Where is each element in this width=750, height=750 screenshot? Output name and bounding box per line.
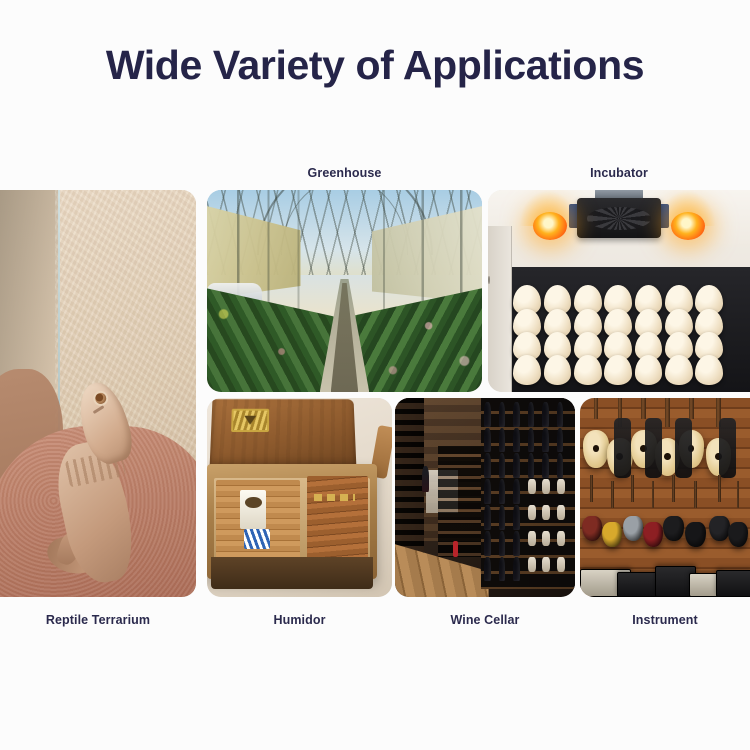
wine-rack-middle: [438, 446, 485, 557]
image-instrument[interactable]: [580, 398, 750, 597]
humidor-lid: [209, 399, 356, 470]
guitar-neck: [665, 398, 670, 427]
wine-bottle-base: [542, 557, 550, 572]
guitar-body: [663, 516, 683, 541]
bearded-dragon-lizard: [51, 373, 153, 597]
incubator-egg-grid: [512, 259, 750, 392]
wine-bottle: [557, 453, 564, 478]
incubator-egg: [665, 355, 693, 384]
wine-bottle: [542, 402, 549, 427]
wine-bottle: [513, 479, 520, 504]
wine-bottle-base: [557, 557, 565, 572]
incubator-side-panel: [488, 226, 512, 392]
humidor-gold-emblem: [231, 409, 269, 433]
wine-bottle: [528, 428, 535, 453]
wine-bottle: [528, 402, 535, 427]
wine-bottle: [422, 466, 429, 492]
guitar-sound-hole: [664, 453, 671, 460]
guitar-neck: [689, 398, 694, 419]
wine-bottle: [484, 557, 491, 582]
guitar-gig-bag: [675, 418, 692, 478]
wine-bottle-base: [557, 505, 565, 520]
wine-bottle: [542, 453, 549, 478]
lizard-eye: [94, 392, 108, 406]
wine-bottle: [499, 531, 506, 556]
image-incubator[interactable]: [488, 190, 750, 392]
wine-bottle-base: [528, 479, 536, 494]
image-greenhouse[interactable]: [207, 190, 482, 392]
wine-rack-far-left: [395, 398, 424, 553]
guitar-neck: [611, 481, 614, 508]
wine-bottle: [513, 531, 520, 556]
wine-bottle-base: [542, 531, 550, 546]
guitar-body: [582, 516, 602, 541]
guitar-body: [583, 430, 609, 468]
guitar-neck: [694, 481, 697, 508]
humidor-scene: [207, 398, 392, 597]
wine-bottle: [484, 453, 491, 478]
guitar-neck: [718, 475, 721, 502]
guitar-neck: [641, 398, 646, 419]
wine-bottle-base: [528, 531, 536, 546]
caption-humidor: Humidor: [207, 613, 392, 627]
wine-bottle: [484, 505, 491, 530]
guitar-body: [709, 516, 729, 541]
wine-bottle: [484, 479, 491, 504]
electric-guitar: [602, 503, 622, 547]
humidor-cigar-bands: [314, 494, 355, 502]
wine-bottle: [499, 402, 506, 427]
guitar-neck: [737, 481, 740, 508]
image-reptile-terrarium[interactable]: [0, 190, 196, 597]
caption-reptile-terrarium: Reptile Terrarium: [0, 613, 196, 627]
guitar-neck: [590, 475, 593, 502]
electric-guitar: [582, 498, 602, 542]
wine-bottle-base: [528, 505, 536, 520]
page-title: Wide Variety of Applications: [0, 42, 750, 89]
caption-incubator: Incubator: [488, 166, 750, 180]
wine-bottle-base: [542, 479, 550, 494]
wine-bottle-base: [557, 531, 565, 546]
guitar-amplifier: [716, 570, 750, 597]
guitar-body: [623, 516, 643, 541]
wine-bottle: [557, 402, 564, 427]
wine-bottle: [499, 428, 506, 453]
electric-guitar: [728, 503, 748, 547]
wine-bottle: [513, 505, 520, 530]
incubator-egg: [574, 355, 602, 384]
electric-guitar: [643, 503, 663, 547]
guitar-gig-bag: [645, 418, 662, 478]
electric-guitar: [663, 498, 683, 542]
incubator-egg: [635, 355, 663, 384]
acoustic-guitar: [583, 414, 609, 468]
guitar-neck: [594, 398, 599, 419]
wine-bottle: [513, 453, 520, 478]
electric-guitar: [623, 498, 643, 542]
wine-bottle: [513, 402, 520, 427]
guitar-neck: [652, 481, 655, 508]
wine-bottle: [499, 505, 506, 530]
guitar-body: [728, 522, 748, 547]
incubator-knob: [488, 276, 490, 284]
wine-bottle: [542, 428, 549, 453]
terrarium-backdrop: [0, 190, 196, 597]
incubator-egg: [695, 355, 723, 384]
guitar-body: [602, 522, 622, 547]
incubator-egg: [544, 355, 572, 384]
wine-bottle-base: [528, 557, 536, 572]
caption-instrument: Instrument: [580, 613, 750, 627]
guitar-sound-hole: [593, 445, 600, 452]
lizard-mouth: [92, 405, 103, 414]
incubator-scene: [488, 190, 750, 392]
applications-gallery-page: Wide Variety of Applications Greenhouse …: [0, 0, 750, 750]
guitar-neck: [631, 475, 634, 502]
wine-cellar-scene: [395, 398, 575, 597]
guitar-gig-bag: [719, 418, 736, 478]
electric-guitar: [685, 503, 705, 547]
wine-bottle-base: [557, 479, 565, 494]
humidor-cigar-label: [240, 490, 266, 530]
wine-bottle: [484, 531, 491, 556]
wine-bottle: [484, 428, 491, 453]
wine-rack-main: [481, 398, 575, 589]
amplifier-row: [580, 543, 750, 597]
wine-bottle-base: [542, 505, 550, 520]
wine-bottle: [513, 428, 520, 453]
incubator-egg: [604, 355, 632, 384]
guitar-body: [643, 522, 663, 547]
guitar-neck: [672, 475, 675, 502]
wine-bottle: [528, 453, 535, 478]
wine-bottle: [484, 402, 491, 427]
image-humidor[interactable]: [207, 398, 392, 597]
humidor-blue-band: [244, 529, 270, 549]
humidor-base: [211, 557, 374, 589]
wine-bottle: [499, 453, 506, 478]
instrument-shop-scene: [580, 398, 750, 597]
wine-bottle: [557, 428, 564, 453]
incubator-heat-bulb: [533, 212, 567, 240]
wine-cellar-red-tag: [453, 541, 458, 557]
incubator-egg: [513, 355, 541, 384]
guitar-body: [685, 522, 705, 547]
wine-bottle: [499, 557, 506, 582]
caption-wine-cellar: Wine Cellar: [395, 613, 575, 627]
wine-bottle: [513, 557, 520, 582]
caption-greenhouse: Greenhouse: [207, 166, 482, 180]
wine-bottle: [499, 479, 506, 504]
humidor-cigars-right: [307, 476, 368, 562]
image-wine-cellar[interactable]: [395, 398, 575, 597]
electric-guitar: [709, 498, 729, 542]
incubator-fan-unit: [577, 198, 661, 238]
guitar-gig-bag: [614, 418, 631, 478]
greenhouse-scene: [207, 190, 482, 392]
